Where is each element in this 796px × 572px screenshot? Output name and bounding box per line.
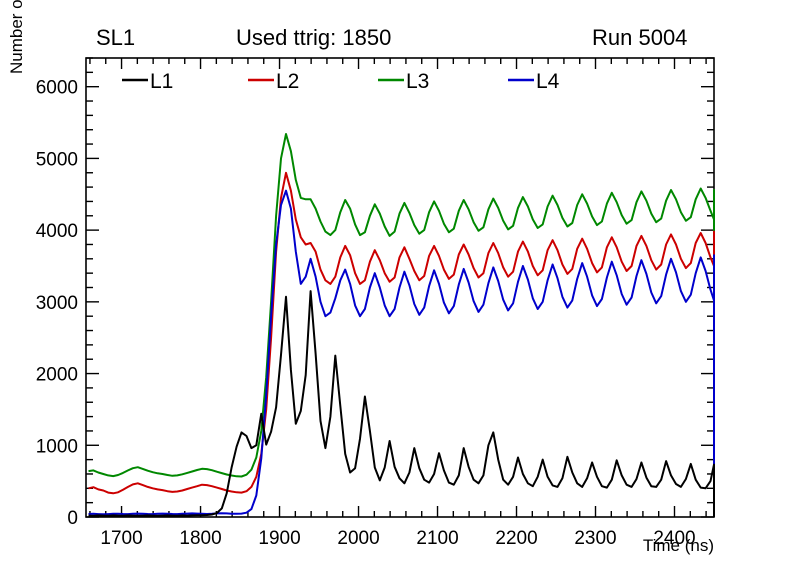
series-line-l1 — [89, 291, 715, 517]
x-axis-title: Time (ns) — [643, 536, 714, 555]
legend: L1L2L3L4 — [122, 70, 560, 93]
plot-area: 17001800190020002100220023002400 0100020… — [0, 0, 796, 572]
y-tick-label: 3000 — [36, 293, 78, 314]
x-tick-label: 2100 — [416, 528, 458, 549]
x-tick-label: 2000 — [337, 528, 379, 549]
x-tick-label: 1800 — [179, 528, 221, 549]
series-line-l2 — [89, 173, 715, 517]
x-tick-marks — [90, 58, 706, 517]
legend-label-l1: L1 — [150, 70, 173, 93]
y-tick-label: 6000 — [36, 78, 78, 99]
x-tick-label: 1700 — [100, 528, 142, 549]
legend-label-l2: L2 — [276, 70, 299, 93]
y-axis-title: Number of digis — [7, 0, 26, 74]
y-tick-label: 1000 — [36, 436, 78, 457]
x-tick-label: 2200 — [495, 528, 537, 549]
x-tick-label: 2300 — [574, 528, 616, 549]
legend-label-l4: L4 — [536, 70, 560, 93]
y-tick-label: 2000 — [36, 365, 78, 386]
series-line-l3 — [89, 134, 715, 517]
y-tick-label: 0 — [67, 508, 78, 529]
y-tick-labels: 0100020003000400050006000 — [36, 78, 78, 529]
root-canvas: SL1 Used ttrig: 1850 Run 5004 1700180019… — [0, 0, 796, 572]
legend-label-l3: L3 — [406, 70, 429, 93]
x-tick-label: 1900 — [258, 528, 300, 549]
y-tick-label: 4000 — [36, 221, 78, 242]
x-tick-labels: 17001800190020002100220023002400 — [100, 528, 695, 549]
data-series — [89, 134, 715, 517]
y-tick-label: 5000 — [36, 149, 78, 170]
